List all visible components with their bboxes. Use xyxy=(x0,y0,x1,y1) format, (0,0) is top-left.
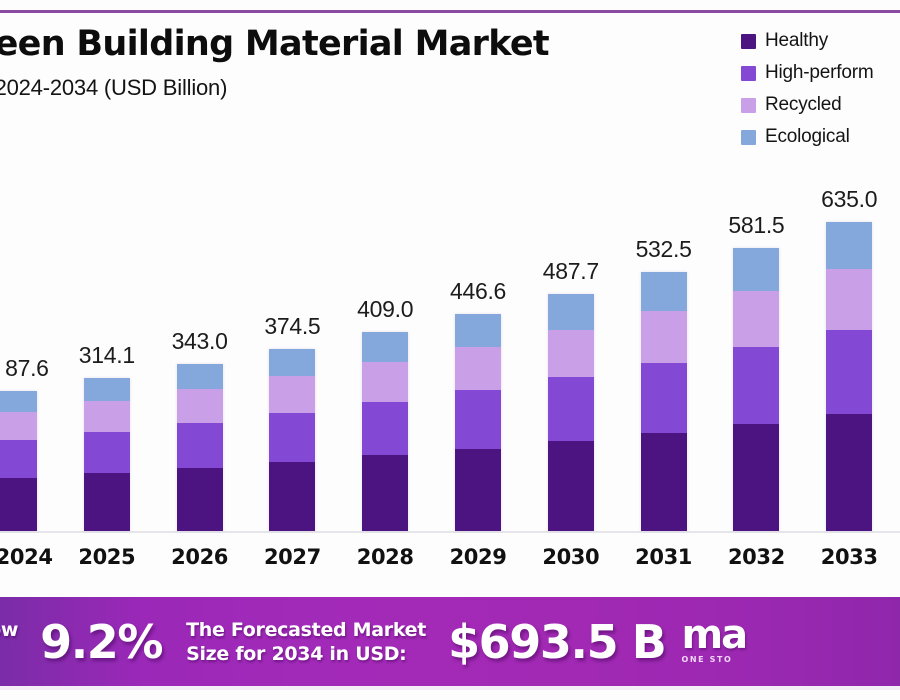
bar-segment-ecological[interactable] xyxy=(177,364,223,389)
bar-group-2031[interactable]: 532.52031 xyxy=(641,0,687,560)
stacked-bar[interactable] xyxy=(826,222,872,531)
bar-segment-ecological[interactable] xyxy=(269,349,315,376)
banner-content: ket will Grow AGR of: 9.2% The Forecaste… xyxy=(0,597,746,686)
bar-segment-high-perform[interactable] xyxy=(84,432,130,473)
bar-segment-high-perform[interactable] xyxy=(362,402,408,456)
bar-segment-recycled[interactable] xyxy=(84,401,130,432)
x-axis-label-2025: 2025 xyxy=(78,545,135,569)
x-axis-label-2028: 2028 xyxy=(357,545,414,569)
bar-value-label: 581.5 xyxy=(728,212,784,239)
bar-segment-recycled[interactable] xyxy=(455,347,501,390)
stacked-bar[interactable] xyxy=(84,378,130,531)
x-axis-label-2031: 2031 xyxy=(635,545,692,569)
bar-segment-high-perform[interactable] xyxy=(826,330,872,413)
forecast-line1: The Forecasted Market xyxy=(186,618,426,642)
bar-segment-high-perform[interactable] xyxy=(455,390,501,449)
x-axis-label-2024: 2024 xyxy=(0,545,53,569)
bar-segment-healthy[interactable] xyxy=(177,468,223,531)
bar-value-label: 87.6 xyxy=(5,355,49,382)
bar-segment-recycled[interactable] xyxy=(641,311,687,363)
bar-group-2026[interactable]: 343.02026 xyxy=(177,0,223,560)
bar-value-label: 487.7 xyxy=(543,258,599,285)
banner-bottom-edge xyxy=(0,686,900,690)
bar-segment-ecological[interactable] xyxy=(548,294,594,330)
bar-segment-ecological[interactable] xyxy=(362,332,408,362)
stacked-bar-chart: 87.62024314.12025343.02026374.52027409.0… xyxy=(0,0,900,560)
bar-segment-high-perform[interactable] xyxy=(548,377,594,441)
bar-segment-high-perform[interactable] xyxy=(177,423,223,468)
x-axis-label-2026: 2026 xyxy=(171,545,228,569)
x-axis-label-2032: 2032 xyxy=(728,545,785,569)
stacked-bar[interactable] xyxy=(362,332,408,531)
stacked-bar[interactable] xyxy=(177,364,223,531)
bar-segment-healthy[interactable] xyxy=(826,414,872,531)
bar-segment-high-perform[interactable] xyxy=(269,413,315,462)
bar-segment-recycled[interactable] xyxy=(548,330,594,377)
bar-segment-ecological[interactable] xyxy=(84,378,130,401)
bar-segment-recycled[interactable] xyxy=(733,291,779,348)
bar-group-2032[interactable]: 581.52032 xyxy=(733,0,779,560)
x-axis-label-2030: 2030 xyxy=(542,545,599,569)
bar-segment-recycled[interactable] xyxy=(362,362,408,402)
x-axis-label-2033: 2033 xyxy=(821,545,878,569)
bar-group-2028[interactable]: 409.02028 xyxy=(362,0,408,560)
bar-segment-healthy[interactable] xyxy=(733,424,779,531)
bar-value-label: 532.5 xyxy=(636,236,692,263)
bar-value-label: 446.6 xyxy=(450,278,506,305)
stacked-bar[interactable] xyxy=(733,248,779,531)
summary-banner: ket will Grow AGR of: 9.2% The Forecaste… xyxy=(0,597,900,686)
cagr-value: 9.2% xyxy=(40,618,162,666)
bar-segment-healthy[interactable] xyxy=(641,433,687,531)
x-axis-label-2027: 2027 xyxy=(264,545,321,569)
banner-forecast-text: The Forecasted Market Size for 2034 in U… xyxy=(186,618,426,666)
bar-segment-ecological[interactable] xyxy=(0,391,37,412)
bar-segment-ecological[interactable] xyxy=(733,248,779,290)
x-axis-label-2029: 2029 xyxy=(450,545,507,569)
bar-segment-recycled[interactable] xyxy=(0,412,37,440)
bar-segment-high-perform[interactable] xyxy=(733,347,779,423)
bar-value-label: 343.0 xyxy=(172,328,228,355)
bar-value-label: 635.0 xyxy=(821,186,877,213)
bar-segment-healthy[interactable] xyxy=(269,462,315,531)
bar-segment-healthy[interactable] xyxy=(84,473,130,531)
forecast-line2: Size for 2034 in USD: xyxy=(186,642,426,666)
bar-value-label: 374.5 xyxy=(264,313,320,340)
bar-segment-high-perform[interactable] xyxy=(641,363,687,433)
bar-segment-recycled[interactable] xyxy=(826,269,872,331)
bar-group-2027[interactable]: 374.52027 xyxy=(269,0,315,560)
bar-segment-high-perform[interactable] xyxy=(0,440,37,478)
banner-growth-text: ket will Grow AGR of: xyxy=(0,618,18,666)
banner-growth-line2: AGR of: xyxy=(0,642,18,666)
stacked-bar[interactable] xyxy=(0,391,37,531)
banner-growth-line1: ket will Grow xyxy=(0,618,18,642)
bar-group-2025[interactable]: 314.12025 xyxy=(84,0,130,560)
bar-group-2024[interactable]: 87.62024 xyxy=(0,0,37,560)
stacked-bar[interactable] xyxy=(455,314,501,531)
stacked-bar[interactable] xyxy=(641,272,687,531)
bar-group-2029[interactable]: 446.62029 xyxy=(455,0,501,560)
bar-segment-healthy[interactable] xyxy=(362,455,408,531)
bar-group-2033[interactable]: 635.02033 xyxy=(826,0,872,560)
brand-logo[interactable]: ma ONE STO xyxy=(681,617,746,666)
bar-segment-recycled[interactable] xyxy=(177,389,223,422)
bar-group-2030[interactable]: 487.72030 xyxy=(548,0,594,560)
stacked-bar[interactable] xyxy=(269,349,315,531)
bar-segment-recycled[interactable] xyxy=(269,376,315,412)
bar-segment-healthy[interactable] xyxy=(548,441,594,531)
forecast-value: $693.5 B xyxy=(448,618,665,666)
bar-segment-healthy[interactable] xyxy=(455,449,501,531)
logo-wordmark: ma xyxy=(681,617,746,653)
bar-segment-healthy[interactable] xyxy=(0,478,37,531)
bar-value-label: 314.1 xyxy=(79,342,135,369)
bar-segment-ecological[interactable] xyxy=(641,272,687,311)
bar-segment-ecological[interactable] xyxy=(455,314,501,347)
logo-tagline: ONE STO xyxy=(681,654,746,666)
bar-value-label: 409.0 xyxy=(357,296,413,323)
infographic-canvas: bal Green Building Material Market y Cat… xyxy=(0,0,900,700)
stacked-bar[interactable] xyxy=(548,294,594,531)
bar-segment-ecological[interactable] xyxy=(826,222,872,268)
